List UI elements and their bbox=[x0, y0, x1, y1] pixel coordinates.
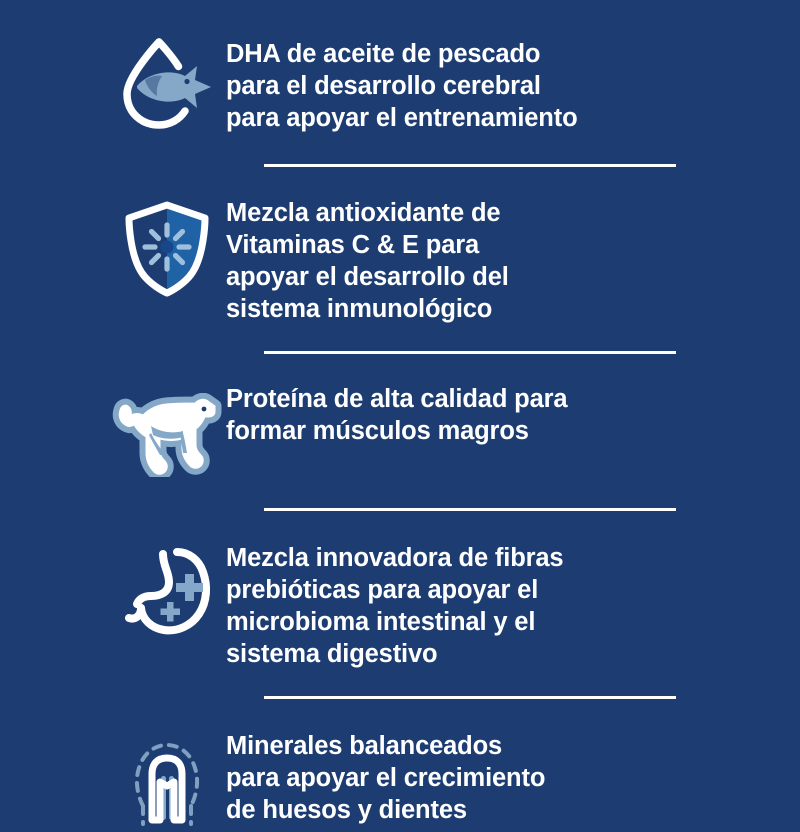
divider-line bbox=[264, 508, 676, 511]
benefit-item-dha: DHA de aceite de pescado para el desarro… bbox=[0, 34, 800, 134]
divider-line bbox=[264, 164, 676, 167]
benefit-text-minerals: Minerales balanceados para apoyar el cre… bbox=[226, 726, 545, 826]
divider-after-benefit-2 bbox=[0, 351, 800, 354]
tooth-bone-icon bbox=[119, 732, 215, 832]
benefit-icon-slot bbox=[108, 379, 226, 477]
divider-after-benefit-4 bbox=[0, 696, 800, 699]
divider-after-benefit-1 bbox=[0, 164, 800, 167]
benefit-item-fiber: Mezcla innovadora de fibras prebióticas … bbox=[0, 538, 800, 670]
dog-muscle-icon bbox=[111, 393, 223, 477]
benefit-item-antioxidant: Mezcla antioxidante de Vitaminas C & E p… bbox=[0, 193, 800, 325]
benefit-icon-slot bbox=[108, 726, 226, 832]
fish-oil-droplet-icon bbox=[115, 36, 219, 132]
divider-line bbox=[264, 696, 676, 699]
benefit-icon-slot bbox=[108, 34, 226, 132]
benefit-text-fiber: Mezcla innovadora de fibras prebióticas … bbox=[226, 538, 563, 670]
benefits-panel: DHA de aceite de pescado para el desarro… bbox=[0, 0, 800, 800]
shield-antioxidant-icon bbox=[117, 197, 217, 301]
benefit-text-dha: DHA de aceite de pescado para el desarro… bbox=[226, 34, 578, 134]
benefit-text-antioxidant: Mezcla antioxidante de Vitaminas C & E p… bbox=[226, 193, 509, 325]
divider-line bbox=[264, 351, 676, 354]
benefit-icon-slot bbox=[108, 538, 226, 640]
stomach-digestive-icon bbox=[117, 544, 217, 640]
benefit-text-protein: Proteína de alta calidad para formar mús… bbox=[226, 379, 567, 447]
benefit-item-minerals: Minerales balanceados para apoyar el cre… bbox=[0, 726, 800, 832]
benefit-item-protein: Proteína de alta calidad para formar mús… bbox=[0, 379, 800, 477]
benefit-icon-slot bbox=[108, 193, 226, 301]
divider-after-benefit-3 bbox=[0, 508, 800, 511]
